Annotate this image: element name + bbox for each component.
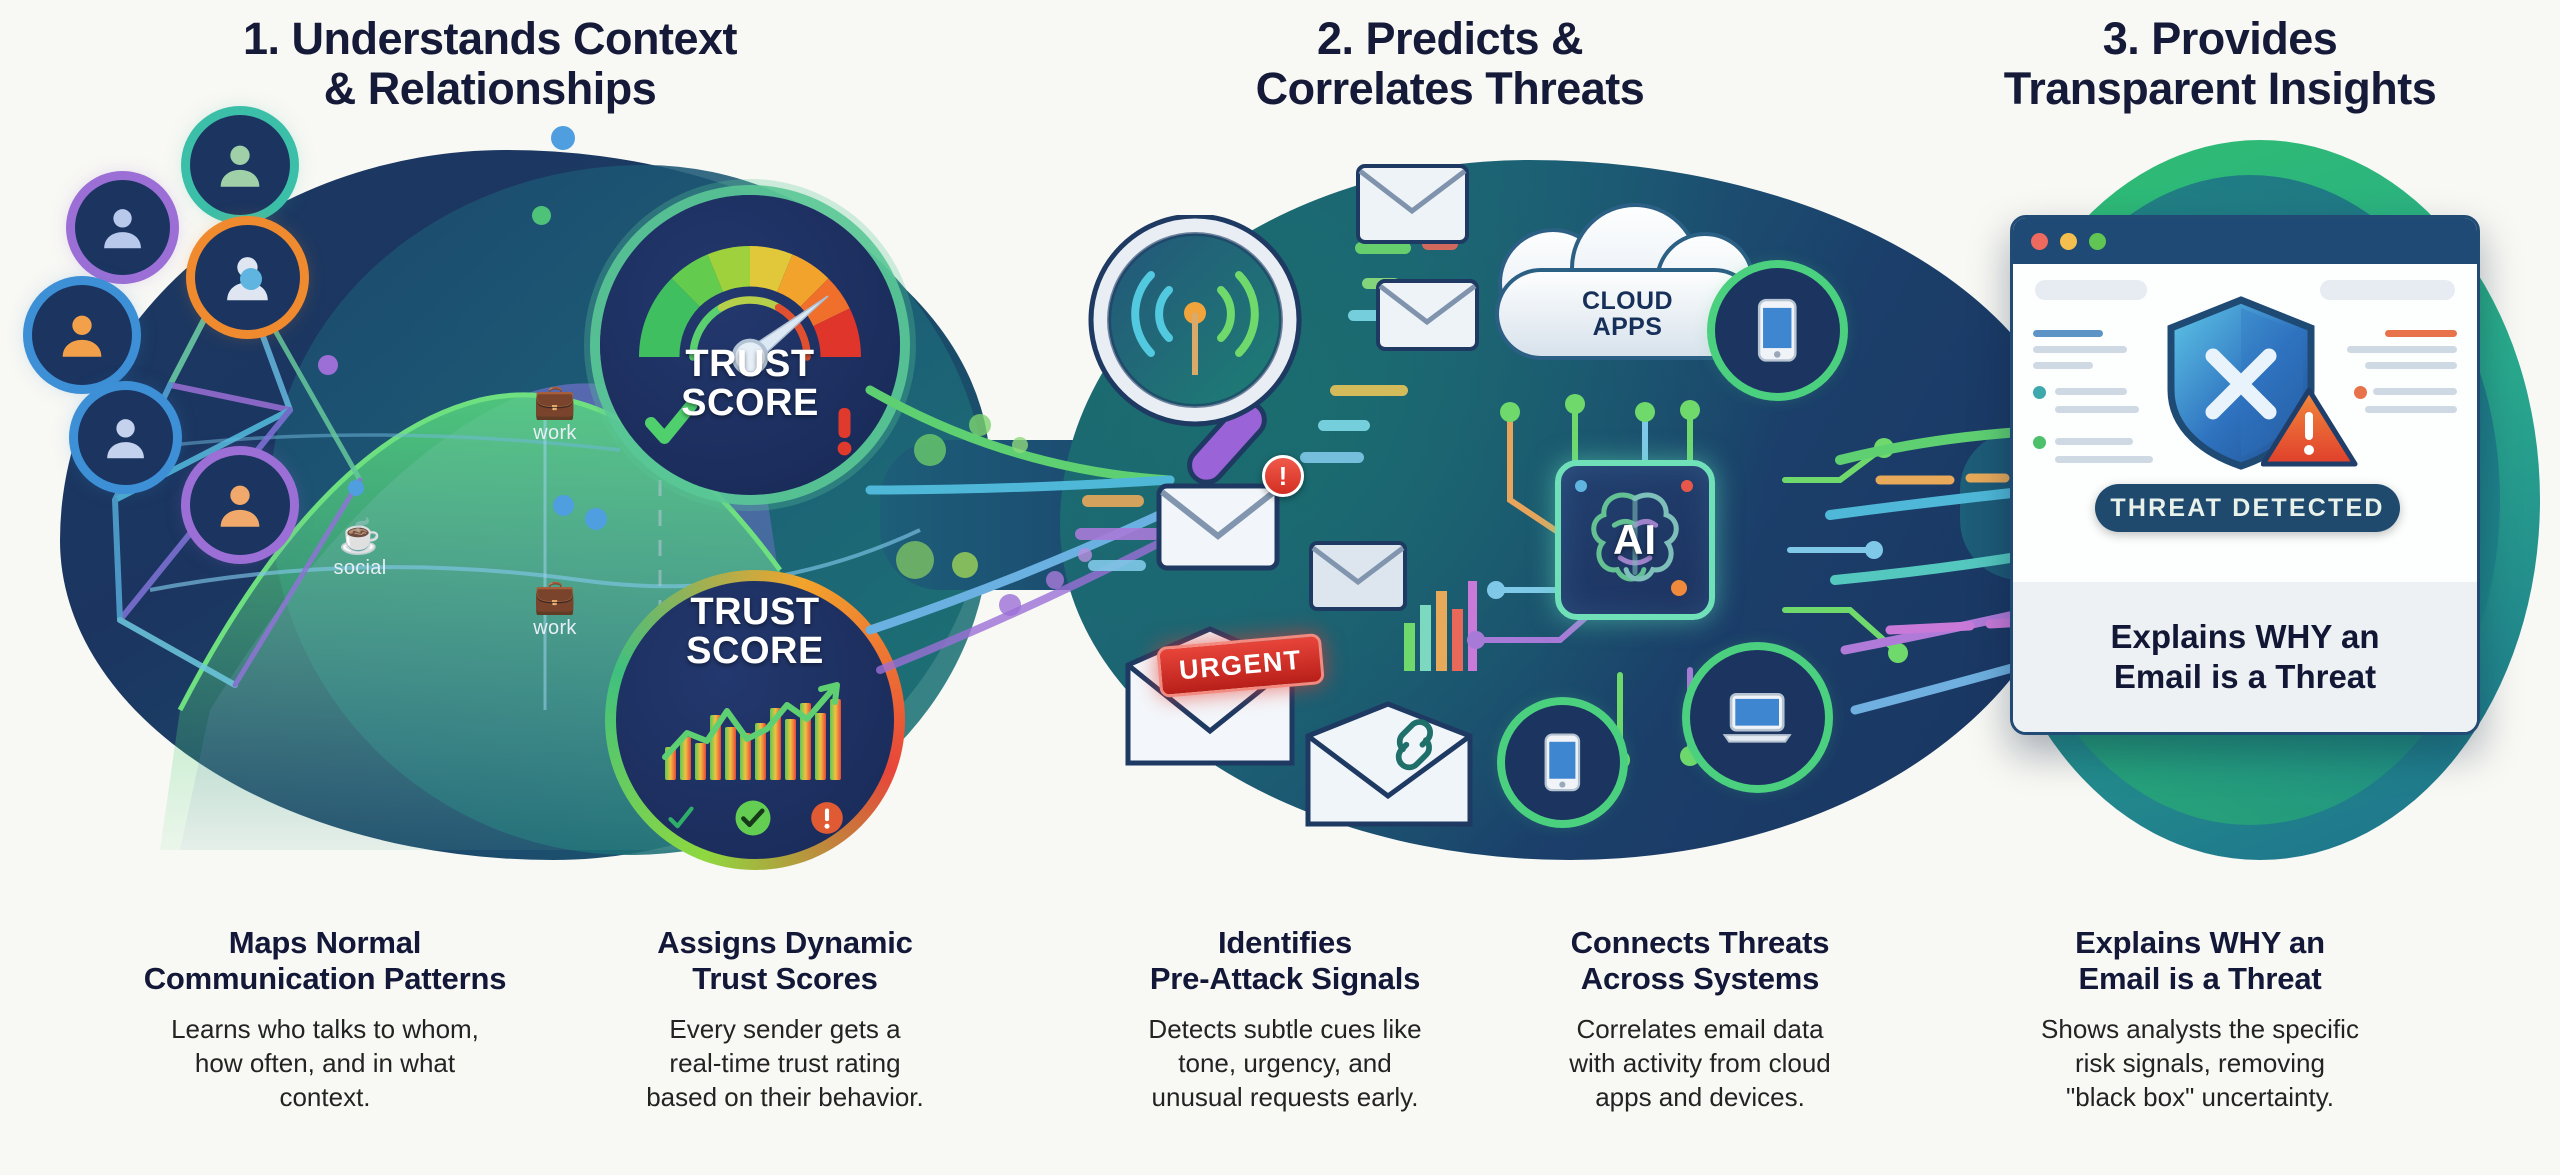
skeleton-dot-2: [2033, 436, 2046, 449]
skeleton-line-7: [2055, 456, 2153, 463]
context-label-social: ☕ social: [300, 520, 420, 580]
traffic-light-close[interactable]: [2031, 233, 2048, 250]
chip-dot-3: [1671, 580, 1687, 596]
check-circle-icon: [732, 797, 774, 839]
context-label-work-bottom: 💼 work: [500, 580, 610, 640]
skeleton-dot-1: [2033, 386, 2046, 399]
caption-desc: Detects subtle cues like tone, urgency, …: [1085, 1012, 1485, 1115]
caption-explains-why-email-is-threat: Explains WHY an Email is a Threat Shows …: [1980, 925, 2420, 1114]
signal-dash-10: [1088, 560, 1146, 571]
panel-1-heading: 1. Understands Context & Relationships: [120, 14, 860, 115]
graph-dot-7: [348, 480, 364, 496]
laptop-node[interactable]: [1690, 650, 1825, 785]
context-label-text: social: [334, 557, 387, 579]
briefcase-icon: 💼: [500, 385, 610, 419]
envelope-icon-3[interactable]: [1308, 540, 1408, 612]
trust-score-chart-label: TRUST SCORE: [686, 593, 824, 671]
skeleton-line-6: [2055, 438, 2133, 445]
skeleton-line-8: [2385, 330, 2457, 337]
caption-assigns-dynamic-trust-scores: Assigns Dynamic Trust Scores Every sende…: [585, 925, 985, 1114]
user-node-1[interactable]: [190, 115, 290, 215]
smartphone-icon: [1741, 294, 1814, 367]
ai-chip-node[interactable]: AI: [1555, 460, 1715, 620]
envelope-icon-1[interactable]: [1355, 163, 1470, 245]
traffic-light-minimize[interactable]: [2060, 233, 2077, 250]
user-node-6[interactable]: [190, 455, 290, 555]
threat-report-window[interactable]: THREAT DETECTED Explains WHY an Email is…: [2010, 215, 2480, 735]
skeleton-line-2: [2033, 346, 2127, 353]
chip-dot-2: [1681, 480, 1693, 492]
laptop-icon: [1718, 678, 1796, 756]
graph-dot-4: [551, 126, 575, 150]
signal-dash-7: [1300, 452, 1364, 463]
warning-triangle-icon: [2261, 384, 2361, 474]
traffic-light-maximize[interactable]: [2089, 233, 2106, 250]
window-titlebar: [2013, 218, 2477, 264]
caption-desc: Shows analysts the specific risk signals…: [1980, 1012, 2420, 1115]
caption-title: Explains WHY an Email is a Threat: [1980, 925, 2420, 998]
skeleton-line-9: [2347, 346, 2457, 353]
skeleton-line-12: [2365, 406, 2457, 413]
graph-dot-5: [553, 495, 574, 516]
context-label-work-top: 💼 work: [500, 385, 610, 445]
signal-dash-8: [1082, 495, 1144, 507]
skeleton-line-1: [2033, 330, 2103, 337]
user-node-2[interactable]: [75, 180, 170, 275]
skeleton-line-5: [2055, 406, 2139, 413]
envelope-icon-2[interactable]: [1375, 278, 1480, 352]
context-label-text: work: [533, 617, 576, 639]
panel-2-heading: 2. Predicts & Correlates Threats: [1160, 14, 1740, 115]
caption-desc: Correlates email data with activity from…: [1500, 1012, 1900, 1115]
window-footer-text: Explains WHY an Email is a Threat: [2111, 617, 2380, 696]
caption-title: Connects Threats Across Systems: [1500, 925, 1900, 998]
briefcase-icon: 💼: [500, 580, 610, 614]
trust-score-gauge[interactable]: TRUST SCORE: [600, 195, 900, 495]
caption-title: Identifies Pre-Attack Signals: [1085, 925, 1485, 998]
smartphone-icon: [1529, 729, 1596, 796]
check-icon: [664, 804, 698, 832]
signal-dash-5: [1330, 385, 1408, 396]
bar-chart-trend-icon: [655, 675, 855, 795]
coffee-cup-icon: ☕: [300, 520, 420, 554]
alert-circle-icon: [808, 799, 846, 837]
trust-score-gauge-label: TRUST SCORE: [681, 345, 819, 423]
caption-title: Maps Normal Communication Patterns: [90, 925, 560, 998]
graph-dot-2: [318, 355, 338, 375]
skeleton-line-4: [2055, 388, 2127, 395]
graph-dot-1: [240, 268, 262, 290]
caption-desc: Learns who talks to whom, how often, and…: [90, 1012, 560, 1115]
chip-dot-1: [1575, 480, 1587, 492]
caption-desc: Every sender gets a real-time trust rati…: [585, 1012, 985, 1115]
user-node-5[interactable]: [78, 390, 173, 485]
context-label-text: work: [533, 422, 576, 444]
caption-title: Assigns Dynamic Trust Scores: [585, 925, 985, 998]
skeleton-line-10: [2365, 362, 2457, 369]
skeleton-line-3: [2033, 362, 2093, 369]
cloud-apps-label: CLOUD APPS: [1582, 288, 1673, 340]
window-content: THREAT DETECTED: [2013, 264, 2477, 594]
infographic-canvas: 1. Understands Context & Relationships 2…: [0, 0, 2560, 1175]
caption-connects-threats-across-systems: Connects Threats Across Systems Correlat…: [1500, 925, 1900, 1114]
status-badge: THREAT DETECTED: [2095, 484, 2400, 532]
caption-identifies-pre-attack-signals: Identifies Pre-Attack Signals Detects su…: [1085, 925, 1485, 1114]
caption-maps-normal-communication-patterns: Maps Normal Communication Patterns Learn…: [90, 925, 560, 1114]
user-node-4[interactable]: [32, 285, 132, 385]
alert-badge-icon: !: [1262, 455, 1304, 497]
skeleton-pill-left: [2035, 280, 2147, 300]
graph-dot-6: [585, 508, 607, 530]
signal-dash-6: [1318, 420, 1370, 431]
ai-chip-label: AI: [1613, 516, 1657, 564]
panel-3-heading: 3. Provides Transparent Insights: [1900, 14, 2540, 115]
signal-dash-9: [1075, 528, 1161, 540]
graph-dot-3: [532, 206, 551, 225]
phone-node-bottom[interactable]: [1505, 705, 1620, 820]
skeleton-line-11: [2373, 388, 2457, 395]
skeleton-pill-right: [2320, 280, 2455, 300]
window-footer: Explains WHY an Email is a Threat: [2013, 582, 2477, 732]
